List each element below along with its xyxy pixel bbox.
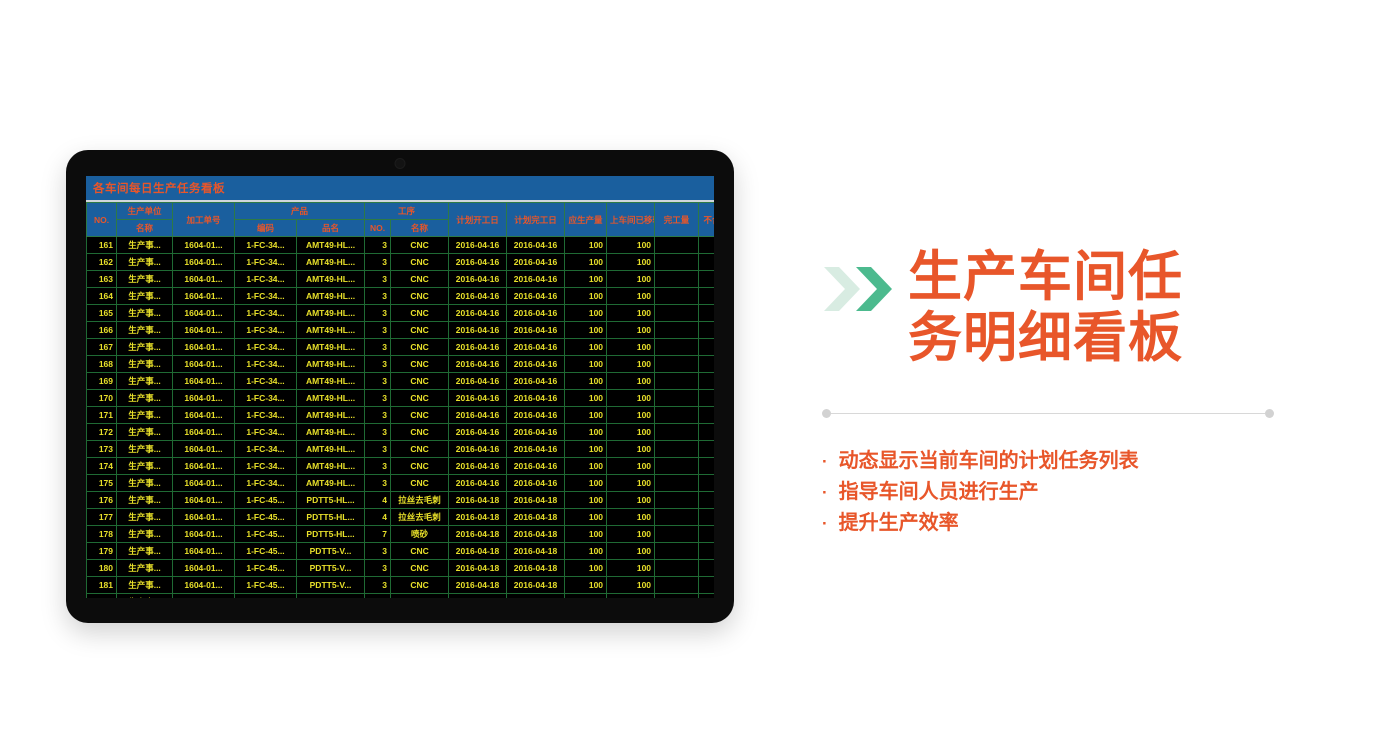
cell-d2: 2016-04-16 (507, 475, 565, 492)
cell-no: 176 (87, 492, 117, 509)
cell-q1: 100 (565, 509, 607, 526)
bullet-marker-icon: · (822, 449, 828, 475)
cell-unit: 生产事... (117, 271, 173, 288)
cell-sno: 3 (365, 373, 391, 390)
table-row[interactable]: 170生产事...1604-01...1-FC-34...AMT49-HL...… (87, 390, 715, 407)
cell-pcode: 1-FC-34... (235, 475, 297, 492)
cell-q1: 100 (565, 390, 607, 407)
col-step-name[interactable]: 名称 (391, 220, 449, 237)
cell-pname: PDTT5-V... (297, 577, 365, 594)
cell-pname: PDTT5-V... (297, 543, 365, 560)
cell-d1: 2016-04-16 (449, 441, 507, 458)
cell-q4 (699, 339, 714, 356)
cell-q2: 100 (607, 373, 655, 390)
cell-d2: 2016-04-16 (507, 356, 565, 373)
cell-unit: 生产事... (117, 322, 173, 339)
cell-pcode: 1-FC-45... (235, 509, 297, 526)
cell-q4 (699, 560, 714, 577)
cell-sno: 3 (365, 475, 391, 492)
cell-unit: 生产事... (117, 424, 173, 441)
cell-d1: 2016-04-18 (449, 543, 507, 560)
list-item: ·动态显示当前车间的计划任务列表 (822, 446, 1302, 477)
divider (822, 409, 1274, 418)
cell-pname: AMT49-HL... (297, 305, 365, 322)
camera-dot-icon (395, 158, 406, 169)
bullet-text: 动态显示当前车间的计划任务列表 (839, 446, 1139, 477)
cell-unit: 生产事... (117, 441, 173, 458)
col-transferred-qty[interactable]: 上车间已移转量 (607, 203, 655, 237)
table-row[interactable]: 165生产事...1604-01...1-FC-34...AMT49-HL...… (87, 305, 715, 322)
cell-d2: 2016-04-16 (507, 322, 565, 339)
description-panel: 生产车间任 务明细看板 ·动态显示当前车间的计划任务列表·指导车间人员进行生产·… (822, 247, 1302, 539)
cell-q3 (655, 475, 699, 492)
cell-q1: 100 (565, 577, 607, 594)
cell-d2: 2016-04-16 (507, 441, 565, 458)
cell-order: 1604-01... (173, 509, 235, 526)
divider-dot-right (1265, 409, 1274, 418)
cell-order: 1604-01... (173, 424, 235, 441)
cell-q4 (699, 509, 714, 526)
cell-d1: 2016-04-16 (449, 237, 507, 254)
cell-d1: 2016-04-16 (449, 288, 507, 305)
cell-d2: 2016-04-16 (507, 458, 565, 475)
cell-sname: CNC (391, 594, 449, 599)
cell-order: 1604-01... (173, 526, 235, 543)
cell-order: 1604-01... (173, 271, 235, 288)
cell-q4 (699, 288, 714, 305)
col-product-code[interactable]: 编码 (235, 220, 297, 237)
cell-d2: 2016-04-18 (507, 577, 565, 594)
cell-q1: 100 (565, 594, 607, 599)
cell-no: 165 (87, 305, 117, 322)
title-row: 生产车间任 务明细看板 (822, 247, 1302, 369)
cell-order: 1604-01... (173, 560, 235, 577)
cell-order: 1604-01... (173, 237, 235, 254)
bullet-text: 指导车间人员进行生产 (839, 477, 1039, 508)
bullet-marker-icon: · (822, 480, 828, 506)
cell-q4 (699, 424, 714, 441)
table-row[interactable]: 176生产事...1604-01...1-FC-45...PDTT5-HL...… (87, 492, 715, 509)
cell-q3 (655, 254, 699, 271)
cell-unit: 生产事... (117, 254, 173, 271)
col-plan-start-date[interactable]: 计划开工日 (449, 203, 507, 237)
cell-q3 (655, 356, 699, 373)
cell-sname: CNC (391, 543, 449, 560)
cell-pcode: 1-FC-34... (235, 339, 297, 356)
cell-sno: 3 (365, 458, 391, 475)
cell-d2: 2016-04-16 (507, 339, 565, 356)
cell-pcode: 1-FC-34... (235, 424, 297, 441)
cell-no: 181 (87, 577, 117, 594)
cell-sno: 4 (365, 492, 391, 509)
cell-d2: 2016-04-16 (507, 254, 565, 271)
cell-no: 175 (87, 475, 117, 492)
cell-pname: AMT49-HL... (297, 407, 365, 424)
cell-q1: 100 (565, 458, 607, 475)
production-task-table[interactable]: NO. 生产单位 加工单号 产品 工序 计划开工日 计划完工日 应生产量 上车间… (86, 202, 714, 598)
cell-pname: AMT49-HL... (297, 271, 365, 288)
cell-q4 (699, 356, 714, 373)
cell-order: 1604-01... (173, 254, 235, 271)
cell-d2: 2016-04-18 (507, 594, 565, 599)
cell-no: 169 (87, 373, 117, 390)
cell-q4 (699, 594, 714, 599)
page-title: 生产车间任 务明细看板 (908, 247, 1183, 369)
cell-unit: 生产事... (117, 458, 173, 475)
cell-sname: CNC (391, 458, 449, 475)
table-row[interactable]: 163生产事...1604-01...1-FC-34...AMT49-HL...… (87, 271, 715, 288)
cell-q3 (655, 509, 699, 526)
cell-order: 1604-01... (173, 441, 235, 458)
cell-pname: AMT49-HL... (297, 475, 365, 492)
cell-order: 1604-01... (173, 492, 235, 509)
cell-d1: 2016-04-16 (449, 475, 507, 492)
cell-pname: AMT49-HL... (297, 373, 365, 390)
cell-unit: 生产事... (117, 526, 173, 543)
cell-pcode: 1-FC-34... (235, 356, 297, 373)
cell-sno: 3 (365, 560, 391, 577)
cell-q1: 100 (565, 271, 607, 288)
cell-d1: 2016-04-16 (449, 373, 507, 390)
cell-sno: 3 (365, 441, 391, 458)
cell-sname: 拉丝去毛刺 (391, 509, 449, 526)
divider-dot-left (822, 409, 831, 418)
dashboard-title: 各车间每日生产任务看板 (86, 176, 714, 202)
cell-q2: 100 (607, 271, 655, 288)
cell-q1: 100 (565, 373, 607, 390)
table-body: 161生产事...1604-01...1-FC-34...AMT49-HL...… (87, 237, 715, 599)
cell-no: 178 (87, 526, 117, 543)
cell-q1: 100 (565, 356, 607, 373)
cell-pcode: 1-FC-45... (235, 543, 297, 560)
header-row-group: NO. 生产单位 加工单号 产品 工序 计划开工日 计划完工日 应生产量 上车间… (87, 203, 715, 220)
cell-d2: 2016-04-16 (507, 373, 565, 390)
cell-no: 167 (87, 339, 117, 356)
table-row[interactable]: 173生产事...1604-01...1-FC-34...AMT49-HL...… (87, 441, 715, 458)
cell-no: 180 (87, 560, 117, 577)
cell-no: 177 (87, 509, 117, 526)
cell-q3 (655, 237, 699, 254)
cell-q1: 100 (565, 339, 607, 356)
cell-q1: 100 (565, 492, 607, 509)
cell-unit: 生产事... (117, 339, 173, 356)
cell-pname: AMT49-HL... (297, 288, 365, 305)
cell-d2: 2016-04-16 (507, 424, 565, 441)
cell-pcode: 1-FC-45... (235, 577, 297, 594)
cell-sname: 拉丝去毛刺 (391, 492, 449, 509)
cell-sno: 3 (365, 577, 391, 594)
tablet-device-mockup: 各车间每日生产任务看板 NO. 生产单位 加工单号 产品 (66, 150, 734, 623)
cell-no: 172 (87, 424, 117, 441)
cell-q3 (655, 424, 699, 441)
cell-sno: 3 (365, 305, 391, 322)
cell-q3 (655, 305, 699, 322)
table-row[interactable]: 161生产事...1604-01...1-FC-34...AMT49-HL...… (87, 237, 715, 254)
col-step-no[interactable]: NO. (365, 220, 391, 237)
cell-no: 164 (87, 288, 117, 305)
cell-sno: 7 (365, 526, 391, 543)
cell-q4 (699, 390, 714, 407)
cell-unit: 生产事... (117, 475, 173, 492)
cell-unit: 生产事... (117, 543, 173, 560)
table-row[interactable]: 175生产事...1604-01...1-FC-34...AMT49-HL...… (87, 475, 715, 492)
cell-d1: 2016-04-16 (449, 271, 507, 288)
cell-sname: CNC (391, 322, 449, 339)
cell-q3 (655, 458, 699, 475)
cell-order: 1604-01... (173, 475, 235, 492)
cell-sno: 3 (365, 271, 391, 288)
cell-q3 (655, 577, 699, 594)
cell-unit: 生产事... (117, 288, 173, 305)
cell-pcode: 1-FC-45... (235, 560, 297, 577)
cell-unit: 生产事... (117, 577, 173, 594)
cell-d2: 2016-04-18 (507, 492, 565, 509)
cell-unit: 生产事... (117, 407, 173, 424)
cell-pcode: 1-FC-34... (235, 288, 297, 305)
cell-q2: 100 (607, 526, 655, 543)
cell-no: 162 (87, 254, 117, 271)
cell-q2: 100 (607, 509, 655, 526)
table-row[interactable]: 171生产事...1604-01...1-FC-34...AMT49-HL...… (87, 407, 715, 424)
cell-q3 (655, 271, 699, 288)
cell-no: 179 (87, 543, 117, 560)
table-row[interactable]: 168生产事...1604-01...1-FC-34...AMT49-HL...… (87, 356, 715, 373)
cell-d1: 2016-04-16 (449, 322, 507, 339)
cell-q2: 100 (607, 458, 655, 475)
cell-sno: 3 (365, 288, 391, 305)
divider-line (831, 413, 1265, 414)
table-row[interactable]: 179生产事...1604-01...1-FC-45...PDTT5-V...3… (87, 543, 715, 560)
cell-pname: PDTT5-V... (297, 594, 365, 599)
cell-order: 1604-01... (173, 458, 235, 475)
cell-q3 (655, 390, 699, 407)
cell-d1: 2016-04-18 (449, 577, 507, 594)
cell-d2: 2016-04-16 (507, 407, 565, 424)
bullet-text: 提升生产效率 (839, 508, 959, 539)
table-row[interactable]: 182生产事...1604-01...1-FC-45...PDTT5-V...3… (87, 594, 715, 599)
cell-unit: 生产事... (117, 390, 173, 407)
table-row[interactable]: 181生产事...1604-01...1-FC-45...PDTT5-V...3… (87, 577, 715, 594)
cell-q3 (655, 543, 699, 560)
cell-order: 1604-01... (173, 594, 235, 599)
cell-q2: 100 (607, 594, 655, 599)
cell-q2: 100 (607, 254, 655, 271)
cell-sname: CNC (391, 288, 449, 305)
cell-d1: 2016-04-18 (449, 560, 507, 577)
table-row[interactable]: 164生产事...1604-01...1-FC-34...AMT49-HL...… (87, 288, 715, 305)
cell-d1: 2016-04-16 (449, 407, 507, 424)
cell-unit: 生产事... (117, 594, 173, 599)
cell-q1: 100 (565, 424, 607, 441)
cell-q3 (655, 526, 699, 543)
cell-q1: 100 (565, 441, 607, 458)
cell-sno: 3 (365, 543, 391, 560)
col-plan-end-date[interactable]: 计划完工日 (507, 203, 565, 237)
cell-pcode: 1-FC-45... (235, 492, 297, 509)
cell-q3 (655, 288, 699, 305)
table-row[interactable]: 177生产事...1604-01...1-FC-45...PDTT5-HL...… (87, 509, 715, 526)
cell-pname: AMT49-HL... (297, 339, 365, 356)
cell-sname: CNC (391, 424, 449, 441)
cell-sno: 3 (365, 424, 391, 441)
col-completed-qty[interactable]: 完工量 (655, 203, 699, 237)
cell-q4 (699, 407, 714, 424)
cell-no: 174 (87, 458, 117, 475)
cell-q2: 100 (607, 475, 655, 492)
cell-sno: 4 (365, 509, 391, 526)
cell-q4 (699, 271, 714, 288)
cell-q2: 100 (607, 577, 655, 594)
cell-d2: 2016-04-16 (507, 237, 565, 254)
cell-q2: 100 (607, 441, 655, 458)
cell-sname: CNC (391, 577, 449, 594)
cell-no: 171 (87, 407, 117, 424)
table-row[interactable]: 169生产事...1604-01...1-FC-34...AMT49-HL...… (87, 373, 715, 390)
cell-sno: 3 (365, 356, 391, 373)
col-no[interactable]: NO. (87, 203, 117, 237)
cell-order: 1604-01... (173, 407, 235, 424)
cell-pname: AMT49-HL... (297, 237, 365, 254)
cell-order: 1604-01... (173, 356, 235, 373)
cell-q1: 100 (565, 475, 607, 492)
cell-sno: 3 (365, 407, 391, 424)
cell-q4 (699, 458, 714, 475)
cell-q1: 100 (565, 254, 607, 271)
table-row[interactable]: 174生产事...1604-01...1-FC-34...AMT49-HL...… (87, 458, 715, 475)
cell-sno: 3 (365, 594, 391, 599)
cell-sname: CNC (391, 475, 449, 492)
cell-q2: 100 (607, 390, 655, 407)
cell-d2: 2016-04-18 (507, 526, 565, 543)
page-title-line1: 生产车间任 (908, 247, 1183, 308)
cell-q4 (699, 475, 714, 492)
cell-d1: 2016-04-18 (449, 492, 507, 509)
cell-q4 (699, 526, 714, 543)
cell-sno: 3 (365, 322, 391, 339)
cell-d1: 2016-04-18 (449, 594, 507, 599)
table-row[interactable]: 178生产事...1604-01...1-FC-45...PDTT5-HL...… (87, 526, 715, 543)
cell-sname: CNC (391, 237, 449, 254)
cell-pcode: 1-FC-34... (235, 390, 297, 407)
table-row[interactable]: 172生产事...1604-01...1-FC-34...AMT49-HL...… (87, 424, 715, 441)
cell-order: 1604-01... (173, 305, 235, 322)
list-item: ·提升生产效率 (822, 508, 1302, 539)
table-row[interactable]: 180生产事...1604-01...1-FC-45...PDTT5-V...3… (87, 560, 715, 577)
cell-pcode: 1-FC-45... (235, 594, 297, 599)
cell-sno: 3 (365, 254, 391, 271)
cell-q4 (699, 322, 714, 339)
table-row[interactable]: 166生产事...1604-01...1-FC-34...AMT49-HL...… (87, 322, 715, 339)
cell-q3 (655, 373, 699, 390)
page-title-line2: 务明细看板 (908, 308, 1183, 369)
table-row[interactable]: 167生产事...1604-01...1-FC-34...AMT49-HL...… (87, 339, 715, 356)
cell-pcode: 1-FC-34... (235, 441, 297, 458)
cell-q1: 100 (565, 407, 607, 424)
cell-pname: PDTT5-V... (297, 560, 365, 577)
cell-pcode: 1-FC-34... (235, 254, 297, 271)
cell-q4 (699, 254, 714, 271)
cell-q1: 100 (565, 288, 607, 305)
cell-d1: 2016-04-16 (449, 339, 507, 356)
col-group-unit[interactable]: 生产单位 (117, 203, 173, 220)
cell-q1: 100 (565, 237, 607, 254)
cell-q3 (655, 339, 699, 356)
cell-q4 (699, 373, 714, 390)
cell-unit: 生产事... (117, 560, 173, 577)
col-product-name[interactable]: 品名 (297, 220, 365, 237)
cell-q3 (655, 492, 699, 509)
cell-d2: 2016-04-16 (507, 271, 565, 288)
col-unit-name[interactable]: 名称 (117, 220, 173, 237)
col-order-no[interactable]: 加工单号 (173, 203, 235, 237)
cell-no: 163 (87, 271, 117, 288)
cell-sname: CNC (391, 390, 449, 407)
cell-sname: CNC (391, 441, 449, 458)
cell-order: 1604-01... (173, 322, 235, 339)
cell-q3 (655, 407, 699, 424)
cell-q3 (655, 560, 699, 577)
cell-unit: 生产事... (117, 492, 173, 509)
cell-order: 1604-01... (173, 288, 235, 305)
cell-q2: 100 (607, 339, 655, 356)
cell-q4 (699, 492, 714, 509)
cell-d1: 2016-04-16 (449, 254, 507, 271)
col-group-product[interactable]: 产品 (235, 203, 365, 220)
cell-sname: CNC (391, 407, 449, 424)
feature-bullet-list: ·动态显示当前车间的计划任务列表·指导车间人员进行生产·提升生产效率 (822, 446, 1302, 539)
table-row[interactable]: 162生产事...1604-01...1-FC-34...AMT49-HL...… (87, 254, 715, 271)
cell-unit: 生产事... (117, 237, 173, 254)
cell-no: 173 (87, 441, 117, 458)
col-planned-qty[interactable]: 应生产量 (565, 203, 607, 237)
cell-sname: CNC (391, 356, 449, 373)
cell-unit: 生产事... (117, 356, 173, 373)
cell-unit: 生产事... (117, 509, 173, 526)
cell-pname: PDTT5-HL... (297, 492, 365, 509)
cell-sname: 喷砂 (391, 526, 449, 543)
cell-sname: CNC (391, 339, 449, 356)
cell-q2: 100 (607, 543, 655, 560)
cell-order: 1604-01... (173, 373, 235, 390)
cell-q4 (699, 577, 714, 594)
cell-pname: AMT49-HL... (297, 441, 365, 458)
cell-order: 1604-01... (173, 577, 235, 594)
cell-q2: 100 (607, 424, 655, 441)
tablet-screen: 各车间每日生产任务看板 NO. 生产单位 加工单号 产品 (86, 176, 714, 598)
cell-pname: PDTT5-HL... (297, 509, 365, 526)
cell-sno: 3 (365, 237, 391, 254)
cell-pname: AMT49-HL... (297, 322, 365, 339)
cell-sname: CNC (391, 271, 449, 288)
cell-q2: 100 (607, 492, 655, 509)
double-chevron-right-icon (822, 261, 900, 317)
cell-sname: CNC (391, 560, 449, 577)
cell-order: 1604-01... (173, 390, 235, 407)
cell-pname: AMT49-HL... (297, 390, 365, 407)
production-kanban-dashboard: 各车间每日生产任务看板 NO. 生产单位 加工单号 产品 (86, 176, 714, 598)
cell-d1: 2016-04-16 (449, 305, 507, 322)
cell-pcode: 1-FC-34... (235, 322, 297, 339)
cell-no: 170 (87, 390, 117, 407)
col-defect-qty[interactable]: 不合格量 (699, 203, 714, 237)
cell-unit: 生产事... (117, 373, 173, 390)
list-item: ·指导车间人员进行生产 (822, 477, 1302, 508)
cell-sname: CNC (391, 254, 449, 271)
cell-no: 182 (87, 594, 117, 599)
cell-pcode: 1-FC-34... (235, 373, 297, 390)
cell-q2: 100 (607, 407, 655, 424)
col-group-step[interactable]: 工序 (365, 203, 449, 220)
